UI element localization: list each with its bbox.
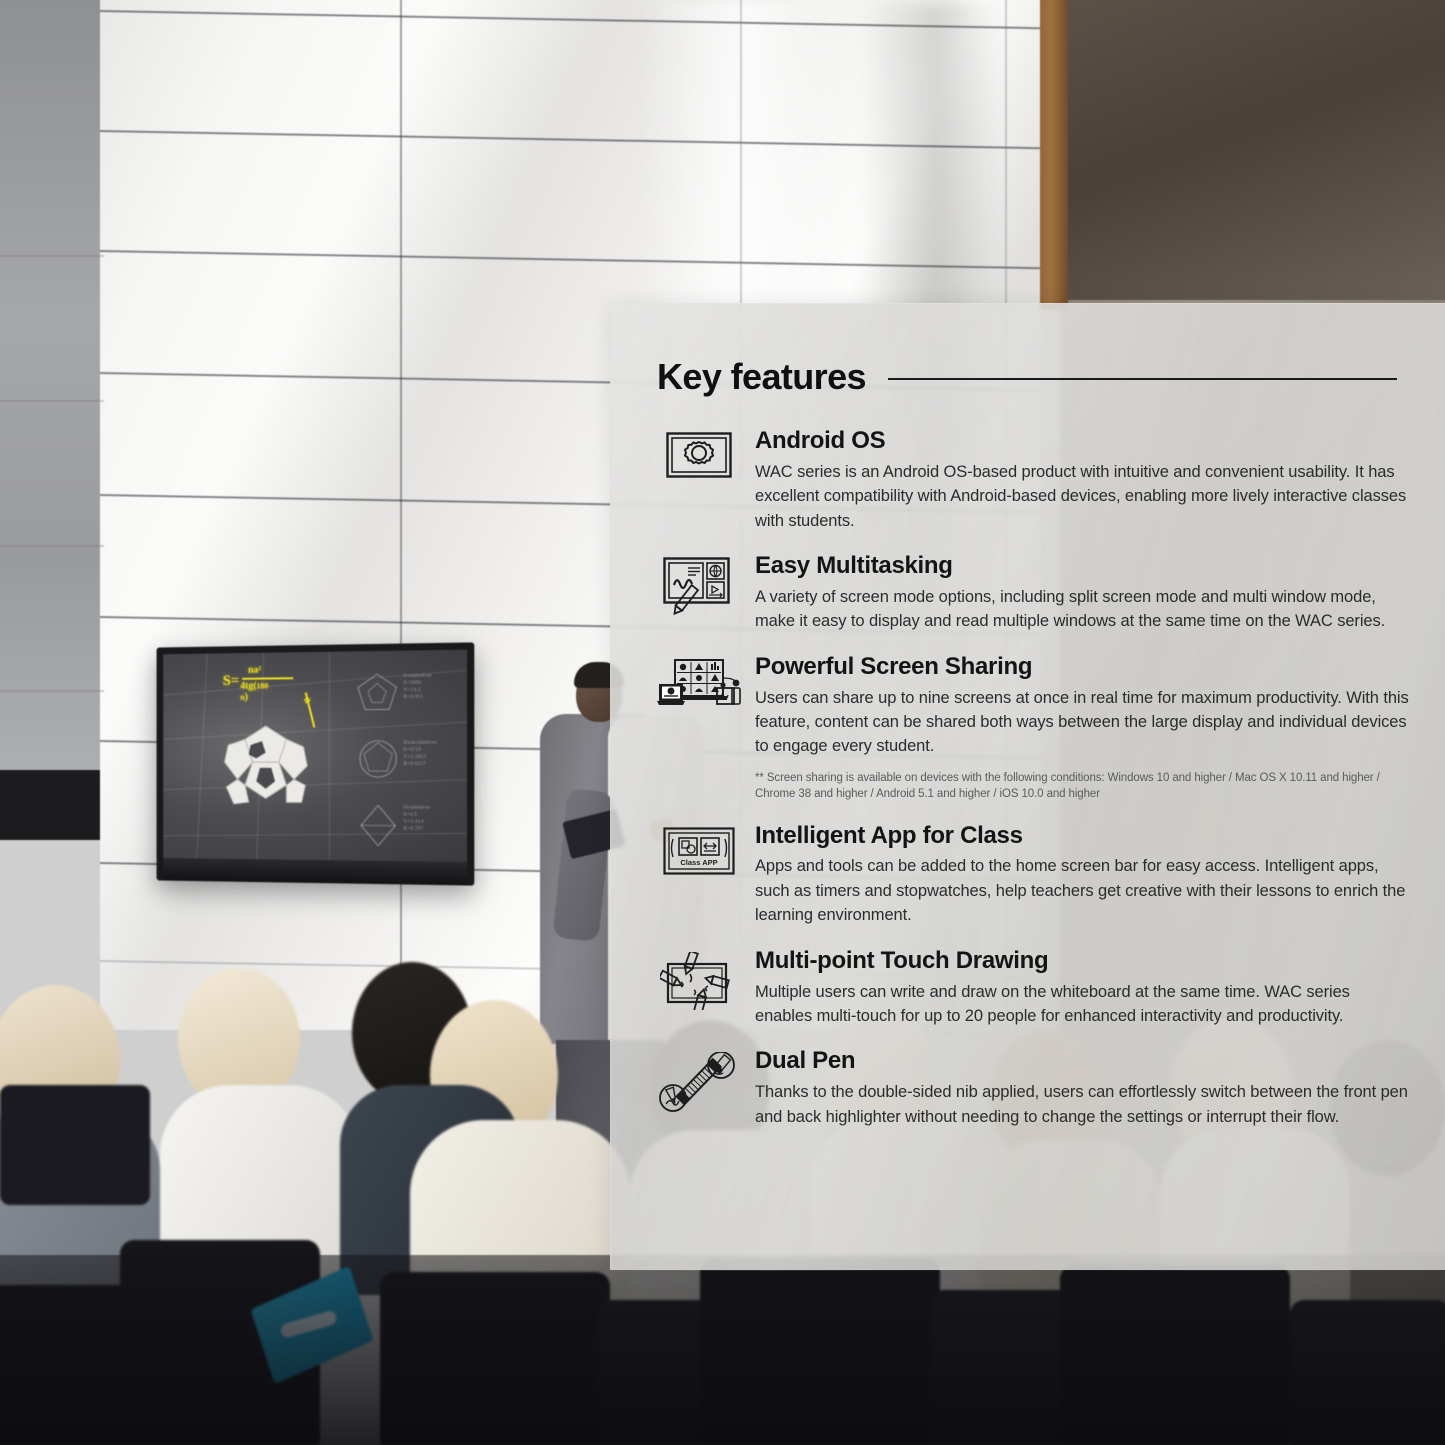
wall-shadow-left [0, 770, 104, 840]
display-screen: S= na² 4tg(180n) a IcosahedronS=5890V=14… [163, 650, 467, 862]
screen-sharing-devices-icon [657, 654, 741, 803]
feature-title: Intelligent App for Class [755, 823, 1409, 850]
dual-pen-magnifier-icon [657, 1048, 741, 1129]
feature-footnote: ** Screen sharing is available on device… [755, 770, 1409, 803]
feature-title: Multi-point Touch Drawing [755, 948, 1409, 975]
feature-description: A variety of screen mode options, includ… [755, 585, 1409, 634]
feature-powerful-screen-sharing: Powerful Screen Sharing Users can share … [657, 654, 1409, 803]
display-bezel [163, 858, 467, 884]
ceiling-beam [1040, 0, 1445, 300]
sketch-polyhedron-2 [357, 738, 399, 781]
feature-multi-point-touch-drawing: Multi-point Touch Drawing Multiple users… [657, 948, 1409, 1029]
feature-title: Android OS [755, 428, 1409, 455]
feature-dual-pen: Dual Pen Thanks to the double-sided nib … [657, 1048, 1409, 1129]
feature-description: Multiple users can write and draw on the… [755, 980, 1409, 1029]
heading-divider [888, 378, 1397, 380]
multi-pen-whiteboard-icon [657, 948, 741, 1029]
feature-description: Apps and tools can be added to the home … [755, 854, 1409, 927]
panel-heading-row: Key features [657, 356, 1409, 398]
feature-title: Dual Pen [755, 1048, 1409, 1075]
feature-title: Easy Multitasking [755, 553, 1409, 580]
page-title: Key features [657, 356, 866, 398]
foreground-shadow [0, 1255, 1445, 1445]
feature-description: Users can share up to nine screens at on… [755, 686, 1409, 759]
screenshot-canvas: S= na² 4tg(180n) a IcosahedronS=5890V=14… [0, 0, 1445, 1445]
interactive-display: S= na² 4tg(180n) a IcosahedronS=5890V=14… [157, 642, 475, 885]
dodecahedron-model [219, 718, 313, 814]
feature-description: Thanks to the double-sided nib applied, … [755, 1080, 1409, 1129]
feature-title: Powerful Screen Sharing [755, 654, 1409, 681]
sketch-polyhedron-1 [355, 671, 399, 716]
feature-android-os: Android OS WAC series is an Android OS-b… [657, 428, 1409, 533]
feature-easy-multitasking: Easy Multitasking A variety of screen mo… [657, 553, 1409, 634]
split-screen-stylus-icon [657, 553, 741, 634]
sketch-polyhedron-3 [357, 802, 399, 849]
feature-intelligent-app-for-class: Class APP Intelligent App for Class Apps… [657, 823, 1409, 928]
key-features-panel: Key features Android OS [610, 303, 1445, 1270]
class-app-icon-label: Class APP [680, 858, 717, 867]
class-app-icon: Class APP [657, 823, 741, 928]
display-gear-icon [657, 428, 741, 533]
feature-description: WAC series is an Android OS-based produc… [755, 460, 1409, 533]
